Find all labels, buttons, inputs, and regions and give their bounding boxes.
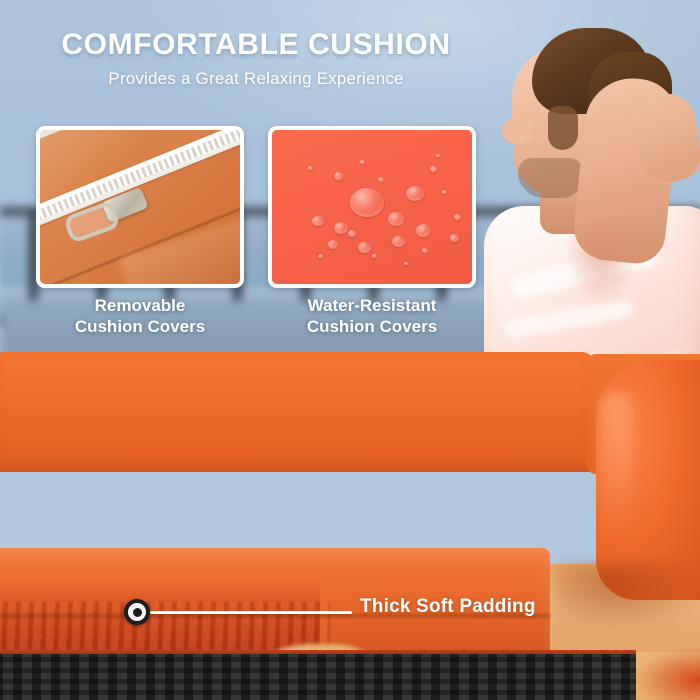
water-drop: [318, 254, 323, 258]
water-drop: [392, 236, 405, 247]
water-drop: [334, 172, 343, 180]
water-drop: [348, 230, 356, 237]
sideburn: [548, 106, 578, 150]
bolster-highlight: [600, 392, 632, 542]
feature-removable-covers: Removable Cushion Covers: [36, 126, 244, 337]
water-drop: [442, 190, 447, 194]
water-drop: [406, 186, 424, 201]
callout-label: Thick Soft Padding: [360, 596, 536, 618]
caption-line-2: Cushion Covers: [36, 317, 244, 338]
arm-shadow: [566, 224, 636, 304]
marker-center-dot: [133, 608, 142, 617]
patio-sofa: [0, 352, 700, 700]
water-drop: [378, 177, 384, 182]
product-marketing-image: COMFORTABLE CUSHION Provides a Great Rel…: [0, 0, 700, 700]
caption-line-2: Cushion Covers: [268, 317, 476, 338]
water-drop: [312, 216, 324, 226]
zipper-closeup-photo: [36, 126, 244, 288]
feature-caption: Water-Resistant Cushion Covers: [268, 296, 476, 337]
caption-line-1: Water-Resistant: [268, 296, 476, 317]
water-drop: [350, 188, 384, 217]
water-beads-fabric-photo: [268, 126, 476, 288]
water-drop: [358, 242, 371, 253]
stubble: [518, 158, 584, 198]
feature-caption: Removable Cushion Covers: [36, 296, 244, 337]
water-drop: [388, 212, 404, 226]
page-title: COMFORTABLE CUSHION: [0, 28, 512, 61]
water-drop: [334, 222, 348, 234]
wicker-base: [0, 654, 636, 700]
water-drop: [404, 262, 408, 265]
back-cushion-left: [0, 352, 594, 472]
page-subtitle: Provides a Great Relaxing Experience: [0, 69, 512, 89]
water-drop: [436, 154, 440, 157]
water-drop: [450, 234, 459, 242]
water-drop: [422, 248, 428, 253]
bullseye-marker-icon: [124, 599, 150, 625]
headline-block: COMFORTABLE CUSHION Provides a Great Rel…: [0, 28, 512, 89]
water-drop: [328, 240, 338, 249]
water-drop: [360, 160, 365, 164]
right-edge-shadow: [636, 648, 700, 700]
feature-water-resistant: Water-Resistant Cushion Covers: [268, 126, 476, 337]
marker-ring: [128, 603, 146, 621]
bolster-shadow: [556, 562, 700, 632]
water-drop: [454, 214, 461, 220]
water-drop: [308, 166, 313, 170]
callout-leader-line: [150, 611, 352, 614]
water-drop: [372, 254, 377, 258]
water-drop: [430, 166, 437, 172]
caption-line-1: Removable: [36, 296, 244, 317]
water-drop: [416, 224, 431, 237]
